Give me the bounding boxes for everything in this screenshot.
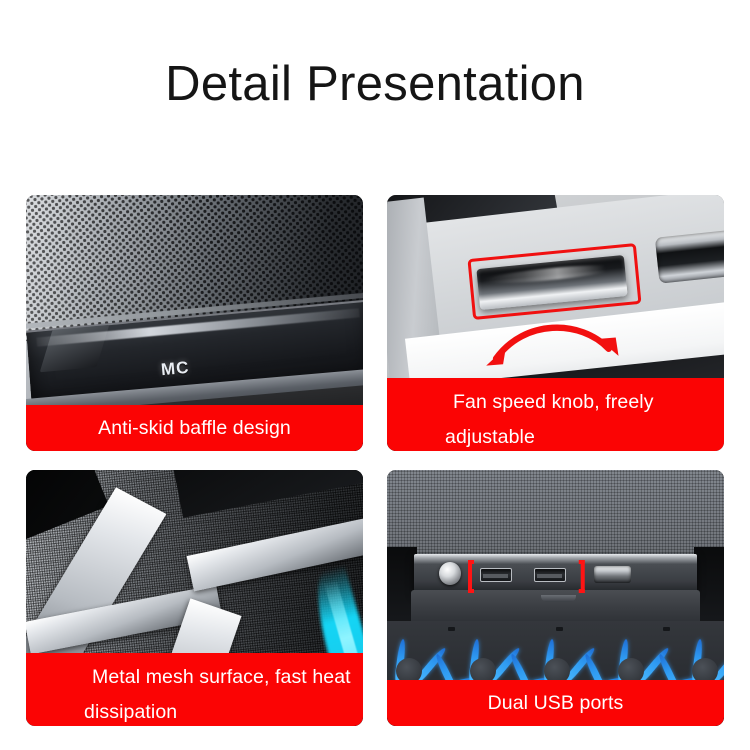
- detail-panel-anti-skid-baffle[interactable]: MC Anti-skid baffle design: [26, 195, 363, 451]
- caption-line: Anti-skid baffle design: [98, 411, 291, 446]
- detail-panel-metal-mesh-surface[interactable]: Metal mesh surface, fast heat dissipatio…: [26, 470, 363, 726]
- usb-cable-slot[interactable]: [594, 566, 631, 583]
- usb-port-2[interactable]: [534, 568, 566, 582]
- detail-panel-fan-speed-knob[interactable]: Fan speed knob, freely adjustable: [387, 195, 724, 451]
- mc-brand-logo: MC: [160, 358, 190, 380]
- panel-caption-fan-speed-knob: Fan speed knob, freely adjustable: [387, 378, 724, 451]
- caption-line: Metal mesh surface, fast heat: [92, 660, 363, 695]
- caption-line: Fan speed knob, freely: [453, 385, 724, 420]
- rotation-double-arrow-icon: [458, 315, 647, 371]
- secondary-port-slot: [654, 229, 724, 284]
- caption-line: dissipation: [84, 695, 363, 726]
- usb-port-1[interactable]: [480, 568, 512, 582]
- panel-caption-anti-skid-baffle: Anti-skid baffle design: [26, 405, 363, 451]
- caption-line: adjustable: [445, 420, 724, 451]
- caption-line: Dual USB ports: [488, 686, 624, 721]
- detail-panel-grid: MC Anti-skid baffle design: [26, 195, 724, 726]
- page-title: Detail Presentation: [0, 56, 750, 112]
- red-bracket-marker-right: [576, 560, 585, 593]
- detail-presentation-page: Detail Presentation MC Anti-skid baffle …: [0, 0, 750, 750]
- red-bracket-marker-left: [468, 560, 477, 593]
- detail-panel-dual-usb-ports[interactable]: Dual USB ports: [387, 470, 724, 726]
- panel-caption-metal-mesh-surface: Metal mesh surface, fast heat dissipatio…: [26, 653, 363, 726]
- panel-caption-dual-usb-ports: Dual USB ports: [387, 680, 724, 726]
